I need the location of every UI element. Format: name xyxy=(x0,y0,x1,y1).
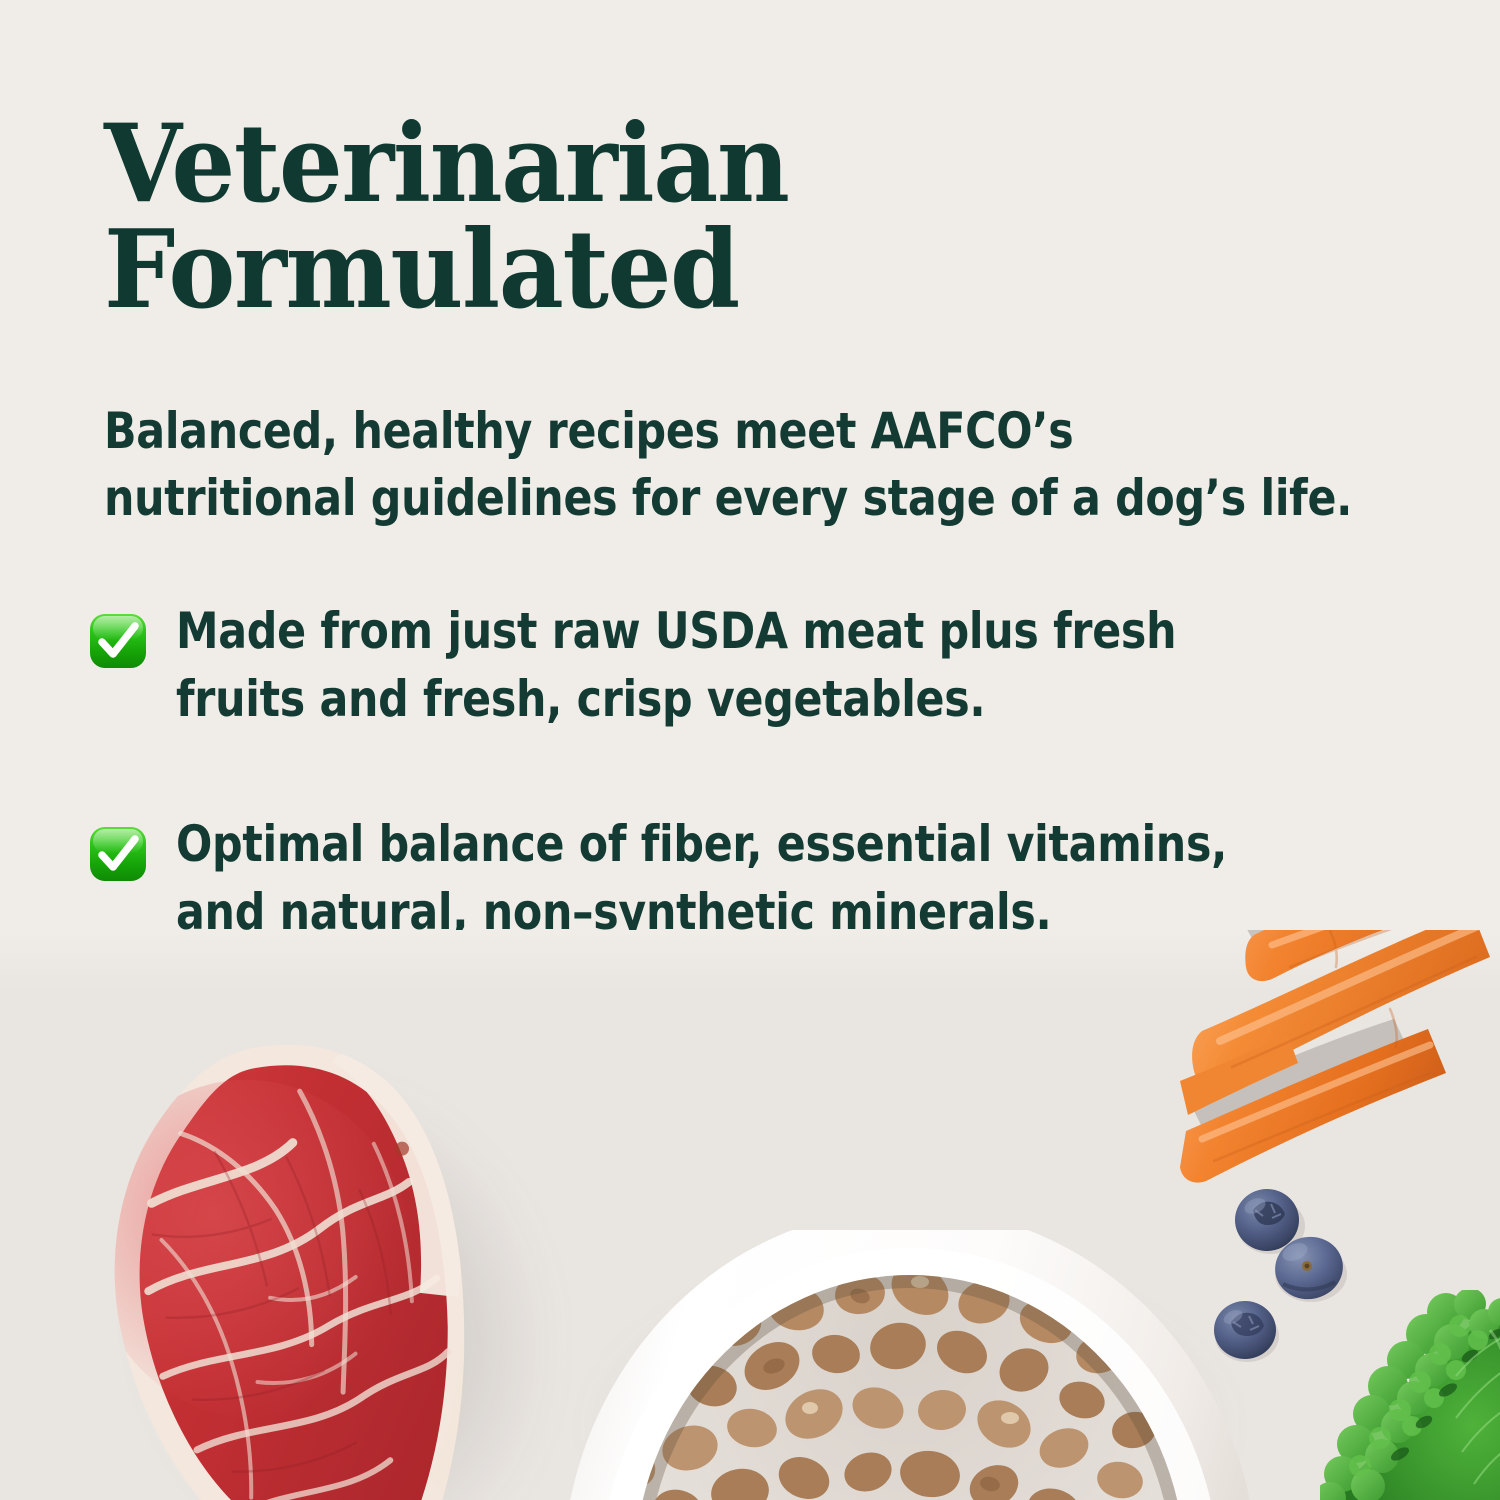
list-item-text: Optimal balance of fiber, essential vita… xyxy=(176,811,1346,946)
kale-image xyxy=(1320,1290,1500,1500)
promo-card: Veterinarian Formulated Balanced, health… xyxy=(0,0,1500,1500)
headline-line-1: Veterinarian xyxy=(104,112,1034,218)
subheading: Balanced, healthy recipes meet AAFCO’s n… xyxy=(104,398,1377,531)
carrots-image xyxy=(1180,930,1500,1195)
list-item: Optimal balance of fiber, essential vita… xyxy=(88,811,1408,946)
green-check-mark-icon xyxy=(88,825,148,883)
subhead-line-2: nutritional guidelines for every stage o… xyxy=(104,465,1377,532)
headline-line-2: Formulated xyxy=(104,218,1034,324)
list-item: Made from just raw USDA meat plus fresh … xyxy=(88,598,1408,733)
page-title: Veterinarian Formulated xyxy=(104,112,1034,324)
raw-steak-image xyxy=(60,1025,580,1500)
list-item-text: Made from just raw USDA meat plus fresh … xyxy=(176,598,1346,733)
bullet-1-line-1: Made from just raw USDA meat plus fresh xyxy=(176,602,1176,660)
kibble-bowl-image xyxy=(560,1230,1260,1500)
bullet-2-line-1: Optimal balance of fiber, essential vita… xyxy=(176,815,1227,873)
subhead-line-1: Balanced, healthy recipes meet AAFCO’s xyxy=(104,398,1377,465)
bullet-1-line-2: fruits and fresh, crisp vegetables. xyxy=(176,670,985,728)
product-photo xyxy=(0,930,1500,1500)
bowl-shape xyxy=(560,1230,1260,1500)
green-check-mark-icon xyxy=(88,612,148,670)
